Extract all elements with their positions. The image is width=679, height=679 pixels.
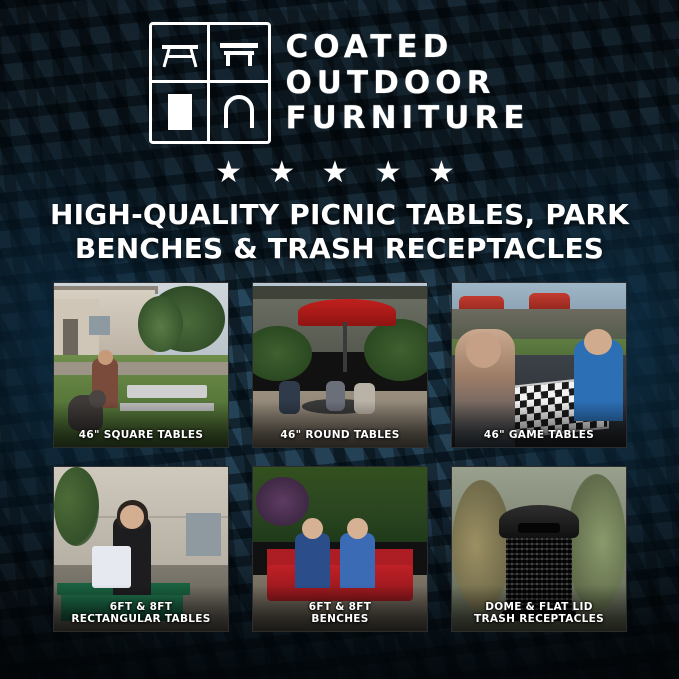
tile-caption: 46" SQUARE TABLES (54, 424, 228, 447)
brand-wordmark: COATED OUTDOOR FURNITURE (285, 31, 529, 136)
logo-icon-grid (149, 22, 271, 144)
headline: HIGH-QUALITY PICNIC TABLES, PARK BENCHES… (0, 198, 679, 266)
tile-caption: 46" GAME TABLES (452, 424, 626, 447)
tile-trash-receptacles[interactable]: DOME & FLAT LID TRASH RECEPTACLES (451, 466, 627, 632)
headline-line-2: BENCHES & TRASH RECEPTACLES (0, 232, 679, 266)
tile-rectangular-tables[interactable]: 6FT & 8FT RECTANGULAR TABLES (53, 466, 229, 632)
tile-caption: 6FT & 8FT RECTANGULAR TABLES (54, 596, 228, 631)
tile-caption-line-1: 46" GAME TABLES (484, 429, 594, 441)
headline-line-1: HIGH-QUALITY PICNIC TABLES, PARK (50, 198, 629, 231)
tile-caption-line-1: DOME & FLAT LID (485, 601, 593, 613)
tile-game-tables[interactable]: 46" GAME TABLES (451, 282, 627, 448)
star-rating: ★ ★ ★ ★ ★ (0, 158, 679, 188)
tile-caption-line-1: 46" SQUARE TABLES (79, 429, 203, 441)
tile-caption-line-2: BENCHES (311, 613, 368, 625)
tile-caption-line-2: TRASH RECEPTACLES (474, 613, 604, 625)
tile-caption: 6FT & 8FT BENCHES (253, 596, 427, 631)
picnic-table-icon (152, 25, 210, 83)
tile-caption-line-1: 46" ROUND TABLES (280, 429, 399, 441)
tile-caption-line-2: RECTANGULAR TABLES (71, 613, 210, 625)
tile-caption: DOME & FLAT LID TRASH RECEPTACLES (452, 596, 626, 631)
promo-poster: COATED OUTDOOR FURNITURE ★ ★ ★ ★ ★ HIGH-… (0, 0, 679, 679)
brand-line-1: COATED (285, 31, 529, 64)
poster-content: COATED OUTDOOR FURNITURE ★ ★ ★ ★ ★ HIGH-… (0, 0, 679, 679)
trash-receptacle-icon (152, 83, 210, 141)
brand-line-2: OUTDOOR (285, 67, 529, 100)
tile-caption-line-1: 6FT & 8FT (309, 601, 371, 613)
arch-trash-can-icon (210, 83, 268, 141)
tile-round-tables[interactable]: 46" ROUND TABLES (252, 282, 428, 448)
product-photo-grid: 46" SQUARE TABLES (53, 282, 627, 632)
tile-square-tables[interactable]: 46" SQUARE TABLES (53, 282, 229, 448)
brand-logo: COATED OUTDOOR FURNITURE (0, 22, 679, 144)
brand-line-3: FURNITURE (285, 102, 529, 135)
tile-benches[interactable]: 6FT & 8FT BENCHES (252, 466, 428, 632)
park-bench-icon (210, 25, 268, 83)
tile-caption: 46" ROUND TABLES (253, 424, 427, 447)
tile-caption-line-1: 6FT & 8FT (110, 601, 172, 613)
